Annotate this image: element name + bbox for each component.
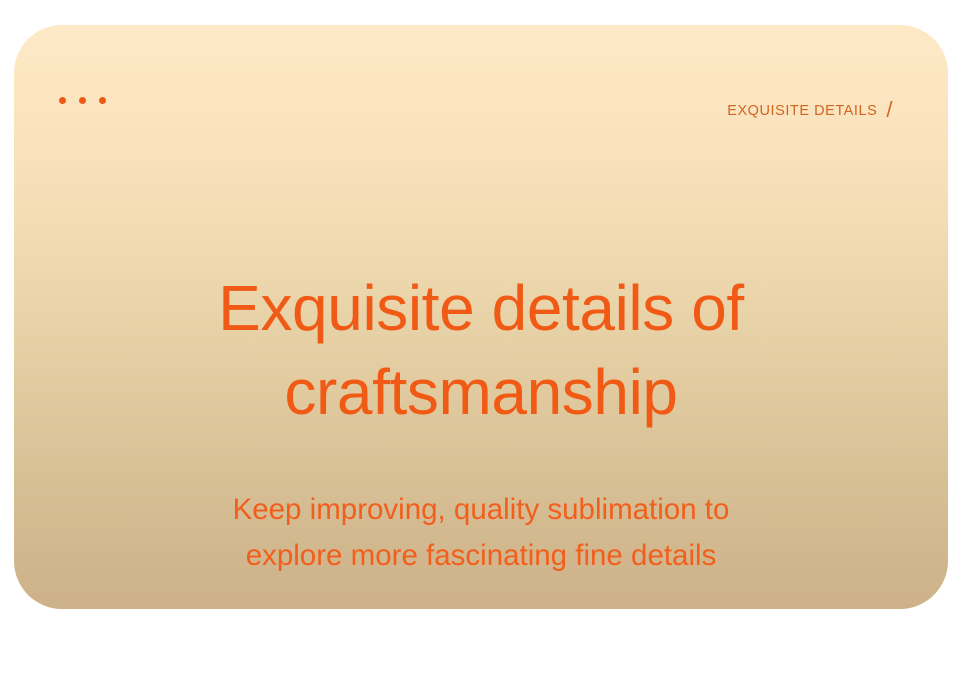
page-subtitle-line-2: explore more fascinating fine details: [14, 533, 948, 579]
page-title-line-2: craftsmanship: [14, 350, 948, 434]
page-subtitle-line-1: Keep improving, quality sublimation to: [14, 487, 948, 533]
page-canvas: EXQUISITE DETAILS / Exquisite details of…: [0, 0, 960, 680]
page-title-line-1: Exquisite details of: [14, 266, 948, 350]
slash-icon: /: [886, 99, 893, 121]
eyebrow-label: EXQUISITE DETAILS /: [727, 100, 893, 122]
page-title: Exquisite details of craftsmanship: [14, 266, 948, 434]
promo-banner-card: EXQUISITE DETAILS / Exquisite details of…: [14, 25, 948, 609]
decorative-dots-group: [59, 97, 106, 104]
dot-icon: [59, 97, 66, 104]
page-subtitle: Keep improving, quality sublimation to e…: [14, 487, 948, 579]
dot-icon: [79, 97, 86, 104]
eyebrow-label-text: EXQUISITE DETAILS: [727, 103, 877, 119]
dot-icon: [99, 97, 106, 104]
